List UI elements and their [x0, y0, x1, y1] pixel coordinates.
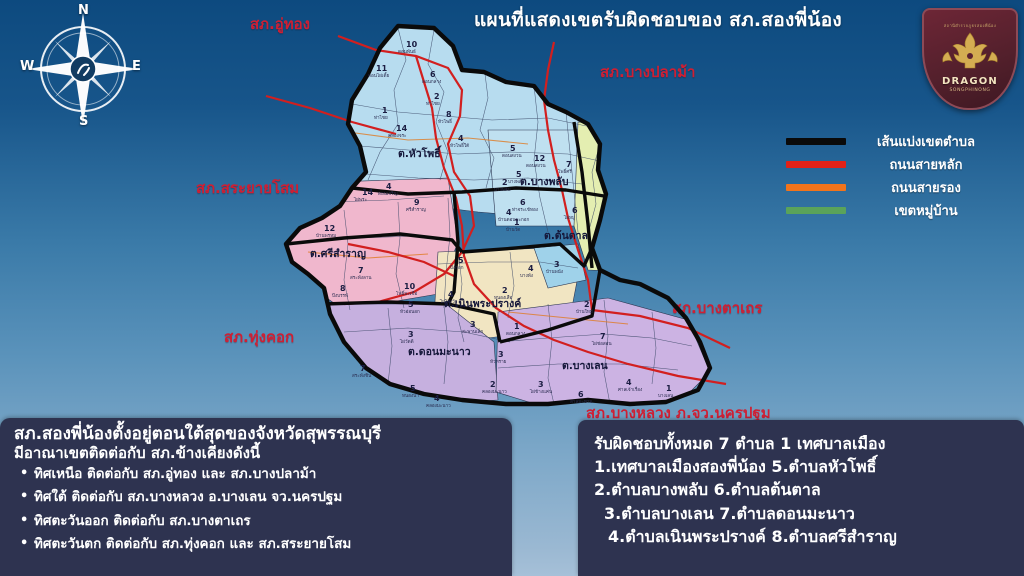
info-panel-subline: มีอาณาเขตติดต่อกับ สภ.ข้างเคียงดังนี้: [14, 444, 502, 464]
legend-row: ถนนสายรอง: [786, 176, 1006, 199]
compass-label-east: E: [132, 59, 141, 74]
legend-label-tambon-boundary: เส้นแบ่งเขตตำบล: [846, 131, 1006, 152]
responsibility-line-1: 1.เทศบาลเมืองสองพี่น้อง 5.ตำบลหัวโพธิ์: [594, 455, 1012, 478]
legend-label-main-road: ถนนสายหลัก: [846, 154, 1006, 175]
dragon-badge-logo: สถานีตำรวจภูธรสองพี่น้อง DRAGON SONGPHIN…: [922, 8, 1014, 106]
map-svg: [248, 12, 748, 412]
legend-swatch-secondary-road: [786, 184, 846, 191]
legend: เส้นแบ่งเขตตำบล ถนนสายหลัก ถนนสายรอง เขต…: [786, 130, 1006, 222]
district-map[interactable]: ต.หัวโพธิ์ ต.บางพลับ ต.ต้นตาล ต.ศรีสำราญ…: [248, 12, 748, 412]
compass-rose: N S W E: [22, 4, 144, 134]
legend-row: เส้นแบ่งเขตตำบล: [786, 130, 1006, 153]
badge-subword: SONGPHINONG: [924, 88, 1016, 93]
responsibility-line-4: 4.ตำบลเนินพระปรางค์ 8.ตำบลศรีสำราญ: [594, 525, 1012, 548]
boundary-list: ทิศเหนือ ติดต่อกับ สภ.อู่ทอง และ สภ.บางป…: [14, 468, 502, 552]
legend-label-secondary-road: ถนนสายรอง: [846, 177, 1006, 198]
legend-row: เขตหมู่บ้าน: [786, 199, 1006, 222]
legend-row: ถนนสายหลัก: [786, 153, 1006, 176]
legend-label-village-area: เขตหมู่บ้าน: [846, 200, 1006, 221]
responsibility-line-2: 2.ตำบลบางพลับ 6.ตำบลต้นตาล: [594, 478, 1012, 501]
map-poster: แผนที่แสดงเขตรับผิดชอบของ สภ.สองพี่น้อง: [0, 0, 1024, 576]
info-panel-headline: สภ.สองพี่น้องตั้งอยู่ตอนใต้สุดของจังหวัด…: [14, 424, 502, 444]
responsibility-headline: รับผิดชอบทั้งหมด 7 ตำบล 1 เทศบาลเมือง: [594, 432, 1012, 455]
info-panel-responsibility: รับผิดชอบทั้งหมด 7 ตำบล 1 เทศบาลเมือง 1.…: [578, 420, 1024, 576]
compass-label-south: S: [79, 114, 88, 129]
compass-label-west: W: [20, 59, 34, 74]
boundary-item-south: ทิศใต้ ติดต่อกับ สภ.บางหลวง อ.บางเลน จว.…: [34, 491, 502, 505]
boundary-item-east: ทิศตะวันออก ติดต่อกับ สภ.บางตาเถร: [34, 515, 502, 529]
legend-swatch-main-road: [786, 161, 846, 168]
badge-arc-text: สถานีตำรวจภูธรสองพี่น้อง: [924, 22, 1016, 29]
boundary-item-west: ทิศตะวันตก ติดต่อกับ สภ.ทุ่งคอก และ สภ.ส…: [34, 538, 502, 552]
garuda-crest-icon: [924, 30, 1016, 78]
legend-swatch-tambon-boundary: [786, 138, 846, 145]
badge-word: DRAGON: [924, 76, 1016, 87]
boundary-item-north: ทิศเหนือ ติดต่อกับ สภ.อู่ทอง และ สภ.บางป…: [34, 468, 502, 482]
legend-swatch-village-area: [786, 207, 846, 214]
info-panel-boundaries: สภ.สองพี่น้องตั้งอยู่ตอนใต้สุดของจังหวัด…: [0, 418, 512, 576]
shield-icon: สถานีตำรวจภูธรสองพี่น้อง DRAGON SONGPHIN…: [922, 8, 1018, 110]
compass-label-north: N: [78, 3, 89, 18]
responsibility-line-3: 3.ตำบลบางเลน 7.ตำบลดอนมะนาว: [594, 502, 1012, 525]
